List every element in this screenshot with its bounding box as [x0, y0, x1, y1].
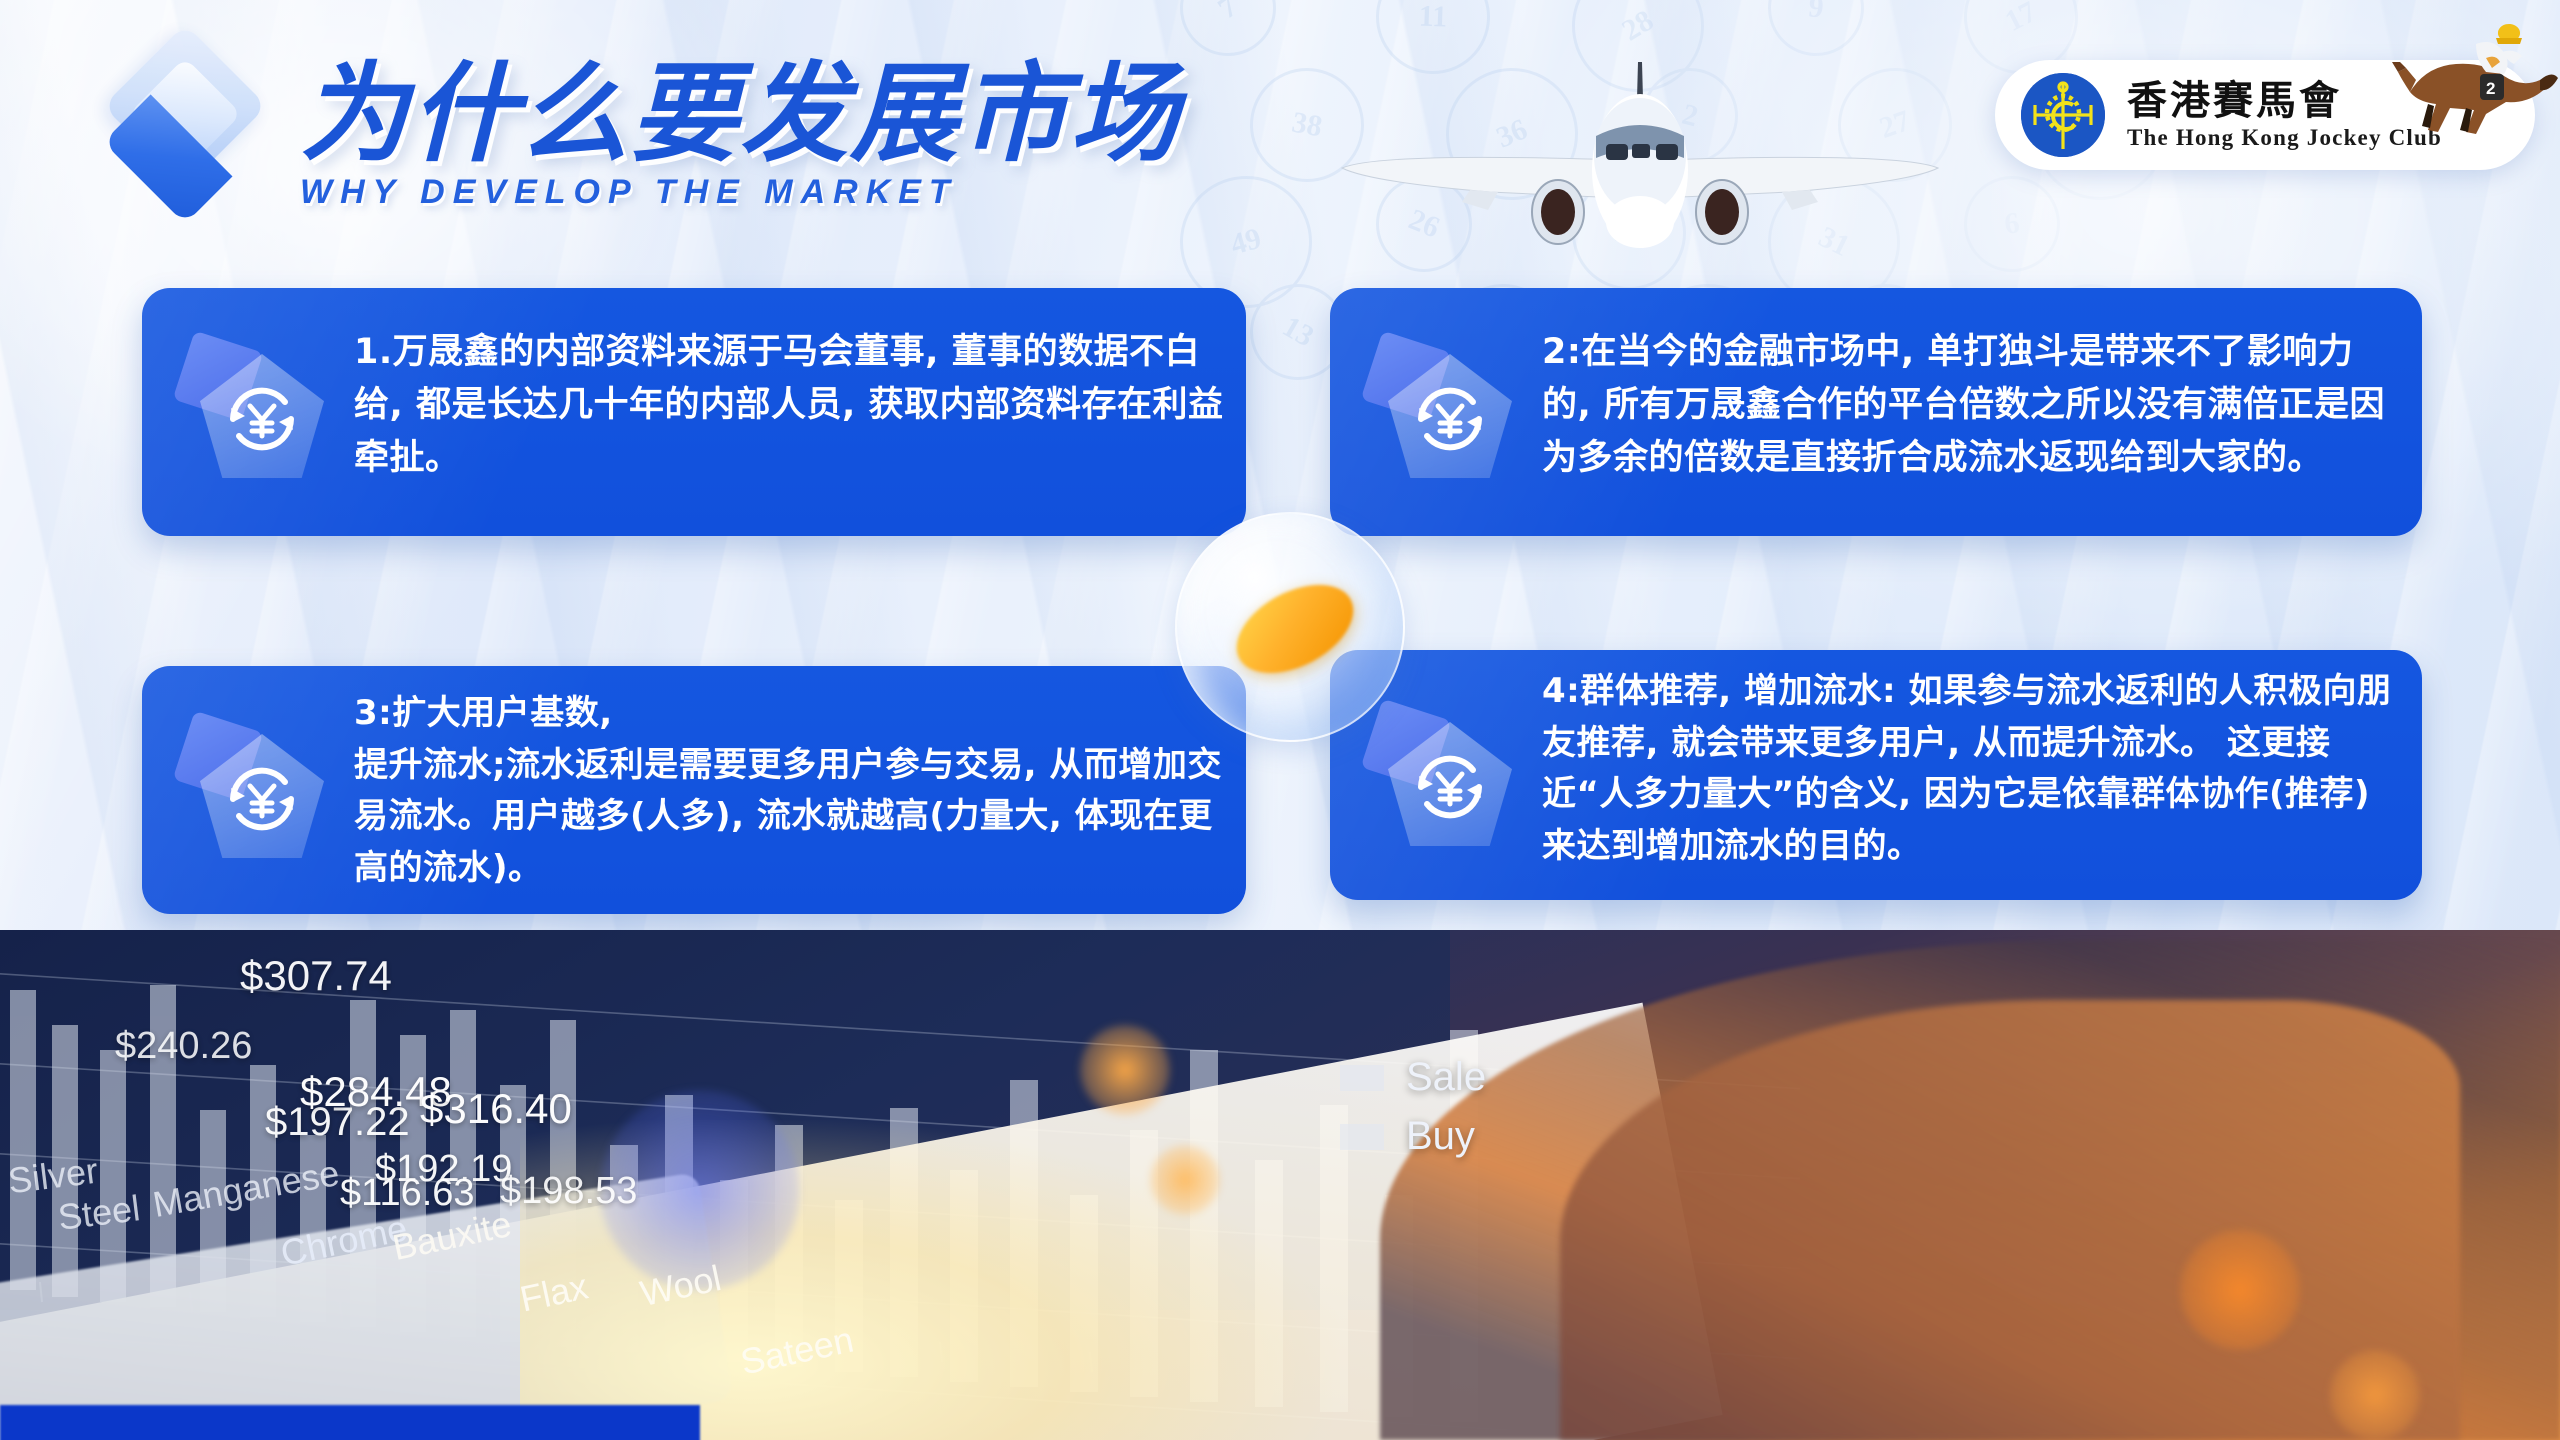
- bokeh-light: [2330, 1350, 2420, 1440]
- yuan-refresh-pentagon-icon: [178, 712, 328, 872]
- chart-price-label: $316.40: [420, 1085, 572, 1133]
- info-card-2[interactable]: 2:在当今的金融市场中, 单打独斗是带来不了影响力的, 所有万晟鑫合作的平台倍数…: [1330, 288, 2422, 536]
- page-title: 为什么要发展市场: [300, 58, 1180, 171]
- chart-price-label: $116.63: [340, 1172, 475, 1215]
- jockey-club-emblem-icon: [2021, 73, 2105, 157]
- info-card-1[interactable]: 1.万晟鑫的内部资料来源于马会董事, 董事的数据不白给, 都是长达几十年的内部人…: [142, 288, 1246, 536]
- legend-swatch-icon: [1340, 1065, 1384, 1091]
- page-subtitle: WHY DEVELOP THE MARKET: [300, 173, 1180, 212]
- yuan-refresh-pentagon-icon: [1366, 700, 1516, 860]
- yuan-refresh-pentagon-icon: [1366, 332, 1516, 492]
- legend-swatch-icon: [1340, 1124, 1384, 1150]
- info-card-3-text: 3:扩大用户基数, 提升流水;流水返利是需要更多用户参与交易, 从而增加交易流水…: [354, 688, 1224, 895]
- legend-label-sale: Sale: [1406, 1055, 1486, 1100]
- chart-legend: Sale Buy: [1340, 1055, 1486, 1173]
- chart-price-label: $198.53: [500, 1170, 637, 1213]
- info-card-4[interactable]: 4:群体推荐, 增加流水: 如果参与流水返利的人积极向朋友推荐, 就会带来更多用…: [1330, 650, 2422, 900]
- page-title-block: 为什么要发展市场 WHY DEVELOP THE MARKET: [300, 58, 1180, 212]
- chart-price-label: $307.74: [240, 952, 392, 1000]
- airplane-icon: [1320, 40, 1960, 250]
- info-card-4-text: 4:群体推荐, 增加流水: 如果参与流水返利的人积极向朋友推荐, 就会带来更多用…: [1542, 666, 2402, 873]
- chart-price-label: $240.26: [115, 1025, 252, 1068]
- info-card-3[interactable]: 3:扩大用户基数, 提升流水;流水返利是需要更多用户参与交易, 从而增加交易流水…: [142, 666, 1246, 914]
- racehorse-jockey-icon: 2: [2380, 22, 2560, 142]
- bottom-blue-strip: [0, 1405, 700, 1440]
- bokeh-light: [2180, 1230, 2300, 1350]
- legend-item-buy: Buy: [1340, 1114, 1486, 1159]
- yuan-refresh-pentagon-icon: [178, 332, 328, 492]
- infographic-poster: 71128917383622748492645316132539122 为什么要…: [0, 0, 2560, 1440]
- info-card-2-text: 2:在当今的金融市场中, 单打独斗是带来不了影响力的, 所有万晟鑫合作的平台倍数…: [1542, 326, 2402, 486]
- layered-diamond-logo-icon: [105, 48, 265, 188]
- brand-logo-badge: 香港賽馬會 The Hong Kong Jockey Club 2: [1995, 60, 2535, 170]
- legend-label-buy: Buy: [1406, 1114, 1475, 1159]
- bokeh-light: [1150, 1145, 1220, 1215]
- legend-item-sale: Sale: [1340, 1055, 1486, 1100]
- bokeh-light: [1080, 1025, 1170, 1115]
- svg-text:2: 2: [2486, 79, 2495, 98]
- info-card-1-text: 1.万晟鑫的内部资料来源于马会董事, 董事的数据不白给, 都是长达几十年的内部人…: [354, 326, 1224, 486]
